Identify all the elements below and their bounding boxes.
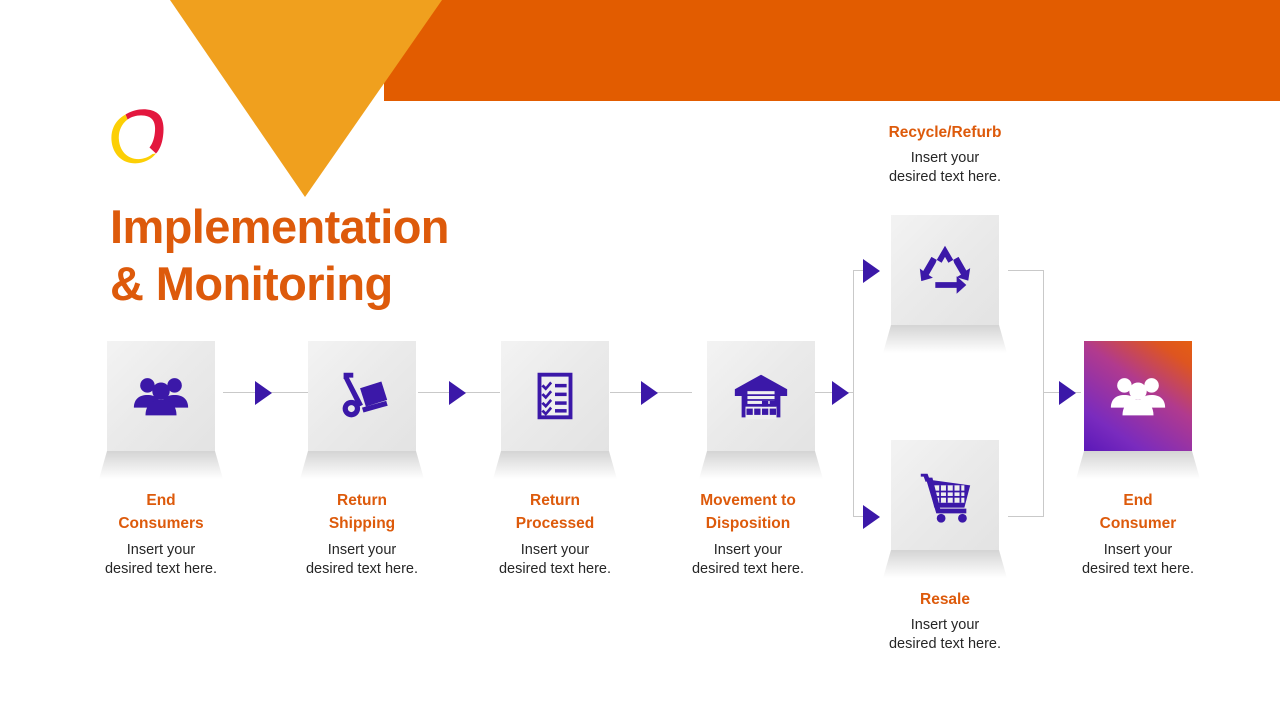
recycle-icon (914, 239, 976, 301)
header-orange-band (384, 0, 1280, 101)
branch-description: Insert your desired text here. (883, 616, 1007, 654)
step-card[interactable] (707, 341, 815, 451)
step-title: Return Processed (493, 489, 617, 536)
step-title-line-2: Consumer (1076, 512, 1200, 535)
step-title: End Consumer (1076, 489, 1200, 536)
step-desc-line-1: Insert your (493, 541, 617, 560)
page-title: Implementation & Monitoring (110, 198, 630, 313)
step-description: Insert your desired text here. (1076, 541, 1200, 579)
step-title-line-1: End (99, 489, 223, 512)
card-pedestal-shadow (699, 451, 823, 479)
branch-desc-line-2: desired text here. (883, 168, 1007, 187)
card-pedestal-shadow (883, 550, 1007, 578)
arrow-icon (863, 259, 880, 283)
page-title-line-1: Implementation (110, 198, 630, 255)
step-return-shipping[interactable]: Return Shipping Insert your desired text… (300, 341, 424, 579)
card-pedestal-shadow (883, 325, 1007, 353)
branch-card[interactable] (891, 215, 999, 325)
arrow-icon (832, 381, 849, 405)
warehouse-icon (730, 365, 792, 427)
step-card[interactable] (308, 341, 416, 451)
branch-desc-line-1: Insert your (883, 149, 1007, 168)
step-card[interactable] (107, 341, 215, 451)
step-desc-line-2: desired text here. (673, 560, 823, 579)
step-desc-line-2: desired text here. (99, 560, 223, 579)
hand-truck-icon (331, 365, 393, 427)
branch-title-text: Resale (883, 588, 1007, 611)
connector-2 (418, 380, 500, 406)
step-title: Return Shipping (300, 489, 424, 536)
card-pedestal-shadow (493, 451, 617, 479)
step-end-consumers[interactable]: End Consumers Insert your desired text h… (99, 341, 223, 579)
arrow-icon (449, 381, 466, 405)
step-desc-line-2: desired text here. (493, 560, 617, 579)
arrow-icon (1059, 381, 1076, 405)
people-group-icon (130, 365, 192, 427)
card-wrapper (99, 341, 223, 479)
arrow-icon (863, 505, 880, 529)
card-wrapper (686, 341, 810, 479)
step-title-line-1: Movement to (673, 489, 823, 512)
step-description: Insert your desired text here. (493, 541, 617, 579)
connector-line (853, 270, 854, 516)
checklist-clipboard-icon (524, 365, 586, 427)
step-title-line-2: Shipping (300, 512, 424, 535)
branch-description: Insert your desired text here. (883, 149, 1007, 187)
step-description: Insert your desired text here. (99, 541, 223, 579)
branch-desc-line-2: desired text here. (883, 635, 1007, 654)
step-title-line-2: Disposition (673, 512, 823, 535)
step-end-consumer-final[interactable]: End Consumer Insert your desired text he… (1076, 341, 1200, 579)
step-card[interactable] (501, 341, 609, 451)
branch-desc-line-1: Insert your (883, 616, 1007, 635)
step-title-line-2: Consumers (99, 512, 223, 535)
page-title-line-2: & Monitoring (110, 255, 630, 312)
slide-canvas: Implementation & Monitoring (0, 0, 1280, 720)
step-description: Insert your desired text here. (673, 541, 823, 579)
card-pedestal-shadow (300, 451, 424, 479)
step-desc-line-1: Insert your (99, 541, 223, 560)
step-desc-line-1: Insert your (300, 541, 424, 560)
connector-line (1008, 516, 1044, 517)
card-wrapper (493, 341, 617, 479)
connector-line (1043, 270, 1044, 516)
card-wrapper (300, 341, 424, 479)
step-return-processed[interactable]: Return Processed Insert your desired tex… (493, 341, 617, 579)
branch-title: Resale (883, 588, 1007, 611)
step-desc-line-1: Insert your (1076, 541, 1200, 560)
step-movement-to-disposition[interactable]: Movement to Disposition Insert your desi… (673, 341, 823, 579)
card-pedestal-shadow (1076, 451, 1200, 479)
branch-title-text: Recycle/Refurb (883, 121, 1007, 144)
branch-card[interactable] (891, 440, 999, 550)
step-title-line-1: Return (493, 489, 617, 512)
step-title-line-1: End (1076, 489, 1200, 512)
card-pedestal-shadow (99, 451, 223, 479)
connector-line (1008, 270, 1044, 271)
step-desc-line-1: Insert your (673, 541, 823, 560)
card-wrapper (883, 215, 1007, 353)
arrow-icon (255, 381, 272, 405)
people-group-icon (1107, 365, 1169, 427)
header-triangle-decoration (170, 0, 442, 197)
final-step-card[interactable] (1084, 341, 1192, 451)
card-wrapper (1076, 341, 1200, 479)
branch-resale[interactable]: Resale Insert your desired text here. (883, 440, 1007, 655)
brand-logo (108, 106, 170, 170)
step-title: End Consumers (99, 489, 223, 536)
step-title: Movement to Disposition (673, 489, 823, 536)
shopping-cart-icon (914, 464, 976, 526)
branch-recycle-refurb[interactable]: Recycle/Refurb Insert your desired text … (883, 121, 1007, 353)
branch-title: Recycle/Refurb (883, 121, 1007, 144)
step-desc-line-2: desired text here. (1076, 560, 1200, 579)
step-description: Insert your desired text here. (300, 541, 424, 579)
card-wrapper (883, 440, 1007, 578)
step-title-line-2: Processed (493, 512, 617, 535)
branch-caption: Recycle/Refurb Insert your desired text … (883, 121, 1007, 188)
arrow-icon (641, 381, 658, 405)
step-title-line-1: Return (300, 489, 424, 512)
step-desc-line-2: desired text here. (300, 560, 424, 579)
